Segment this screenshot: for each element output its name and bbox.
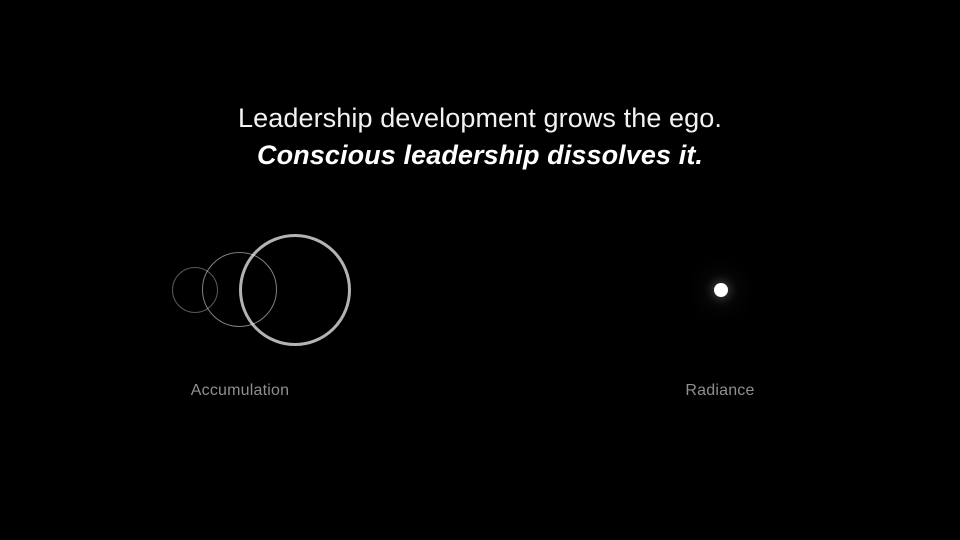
radiance-dot-icon (714, 283, 728, 297)
accumulation-label: Accumulation (90, 381, 390, 401)
radiance-label: Radiance (570, 381, 870, 401)
accumulation-figure (90, 215, 390, 365)
radiance-figure (570, 215, 870, 365)
headline-line-2: Conscious leadership dissolves it. (0, 137, 960, 174)
accumulation-ring-large-icon (239, 234, 351, 346)
slide-canvas: Leadership development grows the ego. Co… (0, 0, 960, 540)
headline: Leadership development grows the ego. Co… (0, 100, 960, 174)
panel-radiance: Radiance (570, 215, 870, 415)
panel-accumulation: Accumulation (90, 215, 390, 415)
headline-line-1: Leadership development grows the ego. (0, 100, 960, 137)
